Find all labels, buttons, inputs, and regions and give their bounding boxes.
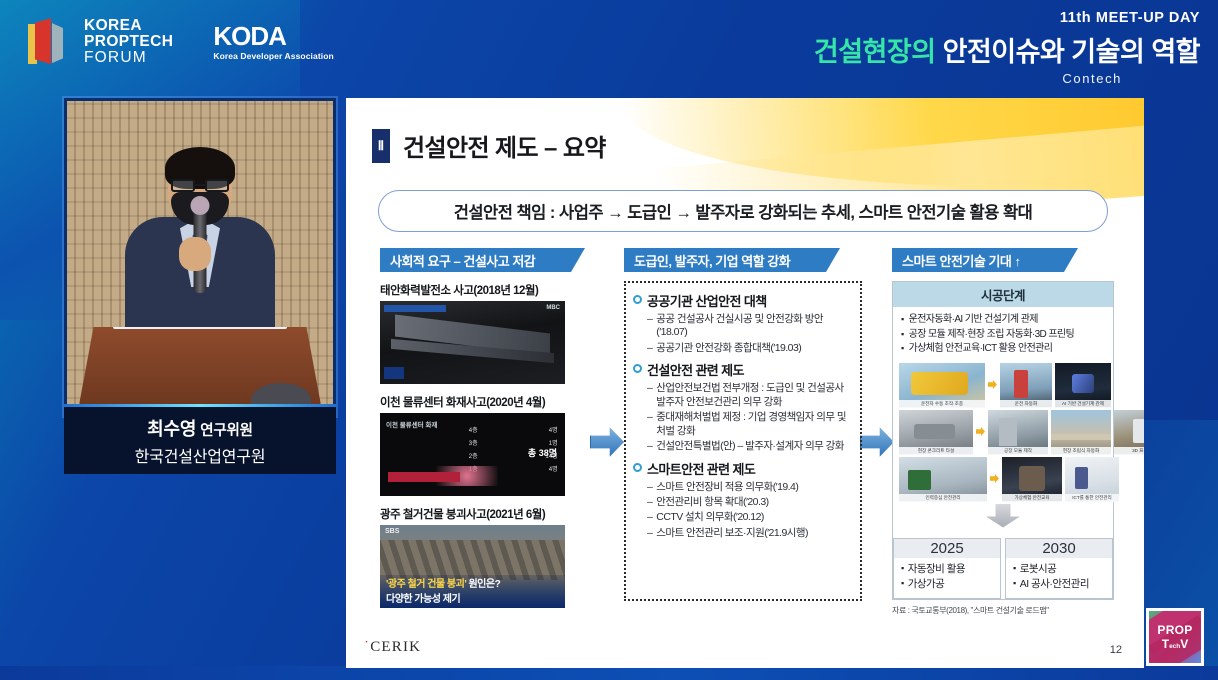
policy-item: –중대재해처벌법 제정 : 기업 경영책임자 의무 및 처벌 강화 <box>647 411 853 438</box>
column-smart-tech: 스마트 안전기술 기대 ↑ 시공단계 운전자동화·AI 기반 건설기계 관제 공… <box>892 248 1120 616</box>
arrow-right-icon <box>988 380 997 389</box>
photo-thumb: 운전자 수동 조작·조종 <box>899 363 985 407</box>
photo-caption: 3D 프린팅 <box>1114 447 1144 455</box>
photo-row: 현장 콘크리트 타설 공장 모듈 제작 현장 조립식 자동화 3D 프린팅 <box>899 410 1107 454</box>
photo-row: 운전자 수동 조작·조종 운전 자동화 AI 기반 건설기계 관제 <box>899 363 1107 407</box>
event-label: 11th MEET-UP DAY <box>814 10 1200 26</box>
column-social-demand: 사회적 요구 – 건설사고 저감 태안화력발전소 사고(2018년 12월) M… <box>380 248 592 616</box>
header-title-block: 11th MEET-UP DAY 건설현장의 안전이슈와 기술의 역할 Cont… <box>814 10 1200 86</box>
proptech-tv-logo: PROP TechV <box>1146 608 1204 666</box>
photo-thumb: 현장 조립식 자동화 <box>1051 410 1111 454</box>
photo-thumb: 공장 모듈 제작 <box>988 410 1048 454</box>
tech-bullet: 운전자동화·AI 기반 건설기계 관제 <box>901 313 1107 328</box>
broadcaster-label: MBC <box>546 305 560 311</box>
speaker-name-row: 최수영연구위원 <box>147 415 253 441</box>
policy-group-title: 건설안전 관련 제도 <box>647 360 744 379</box>
year-item: 자동장비 활용 <box>901 562 996 578</box>
column-header-right: 스마트 안전기술 기대 ↑ <box>892 248 1078 272</box>
news-headline-1: '광주 철거 건물 붕괴' 원인은? <box>386 575 500 590</box>
news-photo-gwangju: SBS '광주 철거 건물 붕괴' 원인은? 다양한 가능성 제기 <box>380 525 565 608</box>
speaker-name: 최수영 <box>147 419 196 439</box>
policy-item: –건설안전특별법(안) – 발주자·설계자 의무 강화 <box>647 440 853 453</box>
tech-bullet: 가상체험 안전교육·ICT 활용 안전관리 <box>901 342 1107 357</box>
column-header-left: 사회적 요구 – 건설사고 저감 <box>380 248 585 272</box>
policy-group: 건설안전 관련 제도 –산업안전보건법 전부개정 : 도급인 및 건설공사 발주… <box>633 360 853 453</box>
construction-stage-panel: 시공단계 운전자동화·AI 기반 건설기계 관제 공장 모듈 제작·현장 조립 … <box>892 281 1114 600</box>
year-label: 2025 <box>894 539 1000 558</box>
column-role-strengthening: 도급인, 발주자, 기업 역할 강화 공공기관 산업안전 대책 –공공 건설공사… <box>624 248 864 601</box>
news-photo-taean: MBC <box>380 301 565 384</box>
cerik-logo: ˙CERIK <box>364 639 421 656</box>
kpf-mark-icon <box>28 18 66 66</box>
photo-caption: 현장 조립식 자동화 <box>1051 447 1111 455</box>
policy-item: –스마트 안전관리 보조·지원(′21.9시행) <box>647 527 853 540</box>
policy-list-box: 공공기관 산업안전 대책 –공공 건설공사 건실시공 및 안전강화 방안(′18… <box>624 281 862 601</box>
broadcast-header: KOREA PROPTECH FORUM KODA Korea Develope… <box>0 0 1218 95</box>
news-item: 태안화력발전소 사고(2018년 12월) MBC <box>380 282 592 384</box>
speaker-affiliation: 한국건설산업연구원 <box>135 443 266 467</box>
panel-title: 시공단계 <box>893 282 1113 307</box>
korea-proptech-forum-logo: KOREA PROPTECH FORUM <box>84 18 173 66</box>
koda-name: KODA <box>213 23 333 49</box>
ptv-line1: PROP <box>1157 624 1192 636</box>
broadcaster-label: SBS <box>385 528 399 535</box>
arrow-right-icon <box>990 474 999 483</box>
slide-columns: 사회적 요구 – 건설사고 저감 태안화력발전소 사고(2018년 12월) M… <box>368 248 1128 628</box>
photo-caption: AI 기반 건설기계 관제 <box>1055 400 1111 408</box>
photo-thumb: 현장 콘크리트 타설 <box>899 410 973 454</box>
year-item: AI 공사·안전관리 <box>1013 577 1108 593</box>
bullet-dot-icon <box>633 463 642 472</box>
news-photo-icheon: 이천 물류센터 화재 4층4명 3층1명 2층14명 1층4명 총 38명 <box>380 413 565 496</box>
photo-caption: 인력중심 안전관리 <box>899 494 987 502</box>
slide-title: 건설안전 제도 – 요약 <box>403 128 606 163</box>
year-label: 2030 <box>1006 539 1112 558</box>
policy-group-title: 스마트안전 관련 제도 <box>647 459 755 478</box>
year-box-2025: 2025 자동장비 활용 가상가공 <box>893 538 1001 599</box>
slide-footer: ˙CERIK 12 <box>346 628 1144 668</box>
slide-page-number: 12 <box>1110 644 1122 656</box>
casualty-total: 총 38명 <box>528 446 557 459</box>
glasses-icon <box>171 179 229 192</box>
policy-item: –공공기관 안전강화 종합대책(′19.03) <box>647 342 853 355</box>
program-title-green: 건설현장의 <box>814 37 936 67</box>
photo-thumb: AI 기반 건설기계 관제 <box>1055 363 1111 407</box>
speaker-video-frame <box>67 101 333 413</box>
photo-caption: 공장 모듈 제작 <box>988 447 1048 455</box>
photo-caption: 가상체험 안전교육 <box>1002 494 1062 502</box>
program-title-white: 안전이슈와 기술의 역할 <box>943 37 1200 67</box>
koda-subtitle: Korea Developer Association <box>213 52 333 61</box>
photo-thumb: 인력중심 안전관리 <box>899 457 987 501</box>
news-caption: 태안화력발전소 사고(2018년 12월) <box>380 282 592 298</box>
presentation-slide: Ⅱ 건설안전 제도 – 요약 건설안전 책임 : 사업주 → 도급인 → 발주자… <box>346 98 1144 668</box>
section-marker: Ⅱ <box>372 129 390 163</box>
news-item: 이천 물류센터 화재사고(2020년 4월) 이천 물류센터 화재 4층4명 3… <box>380 394 592 496</box>
ptv-line2: TechV <box>1162 638 1189 651</box>
speaker-figure <box>125 151 275 341</box>
year-item: 로봇시공 <box>1013 562 1108 578</box>
summary-banner: 건설안전 책임 : 사업주 → 도급인 → 발주자로 강화되는 추세, 스마트 … <box>378 190 1108 232</box>
flow-arrow-1 <box>590 426 624 458</box>
news-headline-2: 다양한 가능성 제기 <box>386 590 460 605</box>
program-subtitle: Contech <box>814 71 1122 86</box>
photo-thumb: ICT를 통한 안전관리 <box>1065 457 1119 501</box>
policy-group: 스마트안전 관련 제도 –스마트 안전장비 적용 의무화(′19.4) –안전관… <box>633 459 853 541</box>
year-box-2030: 2030 로봇시공 AI 공사·안전관리 <box>1005 538 1113 599</box>
news-overlay-title: 이천 물류센터 화재 <box>386 419 437 429</box>
bottom-strip <box>0 666 1218 680</box>
news-caption: 이천 물류센터 화재사고(2020년 4월) <box>380 394 592 410</box>
kpf-line1: KOREA <box>84 18 173 34</box>
photo-thumb: 가상체험 안전교육 <box>1002 457 1062 501</box>
arrow-right-icon <box>976 427 985 436</box>
roadmap-years: 2025 자동장비 활용 가상가공 2030 로봇시공 AI 공사·안전관리 <box>893 538 1113 599</box>
photo-caption: 현장 콘크리트 타설 <box>899 447 973 455</box>
source-note: 자료 : 국토교통부(2018), "스마트 건설기술 로드맵" <box>892 605 1120 616</box>
policy-item: –안전관리비 항목 확대(′20.3) <box>647 496 853 509</box>
tech-photo-grid: 운전자 수동 조작·조종 운전 자동화 AI 기반 건설기계 관제 현장 콘크리… <box>893 361 1113 534</box>
tech-bullet-list: 운전자동화·AI 기반 건설기계 관제 공장 모듈 제작·현장 조립 자동화·3… <box>893 307 1113 361</box>
photo-caption: ICT를 통한 안전관리 <box>1065 494 1119 502</box>
speaker-nameplate: 최수영연구위원 한국건설산업연구원 <box>64 404 336 474</box>
koda-logo: KODA Korea Developer Association <box>213 23 333 61</box>
arrow-down-icon <box>986 504 1020 528</box>
logo-group: KOREA PROPTECH FORUM KODA Korea Develope… <box>28 18 334 66</box>
slide-title-block: Ⅱ 건설안전 제도 – 요약 <box>372 128 606 163</box>
kpf-line3: FORUM <box>84 50 173 66</box>
photo-caption: 운전 자동화 <box>1000 400 1052 408</box>
policy-item: –산업안전보건법 전부개정 : 도급인 및 건설공사 발주자 안전보건관리 의무… <box>647 382 853 409</box>
policy-group-title: 공공기관 산업안전 대책 <box>647 291 767 310</box>
photo-caption: 운전자 수동 조작·조종 <box>899 400 985 408</box>
column-header-middle: 도급인, 발주자, 기업 역할 강화 <box>624 248 840 272</box>
year-item: 가상가공 <box>901 577 996 593</box>
photo-row: 인력중심 안전관리 가상체험 안전교육 ICT를 통한 안전관리 <box>899 457 1107 501</box>
speaker-role: 연구위원 <box>200 423 253 439</box>
policy-item: –CCTV 설치 의무화(′20.12) <box>647 511 853 524</box>
bullet-dot-icon <box>633 295 642 304</box>
policy-item: –스마트 안전장비 적용 의무화(′19.4) <box>647 481 853 494</box>
photo-thumb: 운전 자동화 <box>1000 363 1052 407</box>
kpf-line2: PROPTECH <box>84 34 173 50</box>
policy-group: 공공기관 산업안전 대책 –공공 건설공사 건실시공 및 안전강화 방안(′18… <box>633 291 853 355</box>
flow-arrow-2 <box>860 426 894 458</box>
news-item: 광주 철거건물 붕괴사고(2021년 6월) SBS '광주 철거 건물 붕괴'… <box>380 506 592 608</box>
photo-thumb: 3D 프린팅 <box>1114 410 1144 454</box>
news-caption: 광주 철거건물 붕괴사고(2021년 6월) <box>380 506 592 522</box>
speaker-video-panel <box>64 98 336 416</box>
policy-item: –공공 건설공사 건실시공 및 안전강화 방안(′18.07) <box>647 313 853 340</box>
bullet-dot-icon <box>633 364 642 373</box>
tech-bullet: 공장 모듈 제작·현장 조립 자동화·3D 프린팅 <box>901 328 1107 343</box>
program-title: 건설현장의 안전이슈와 기술의 역할 <box>814 30 1200 69</box>
